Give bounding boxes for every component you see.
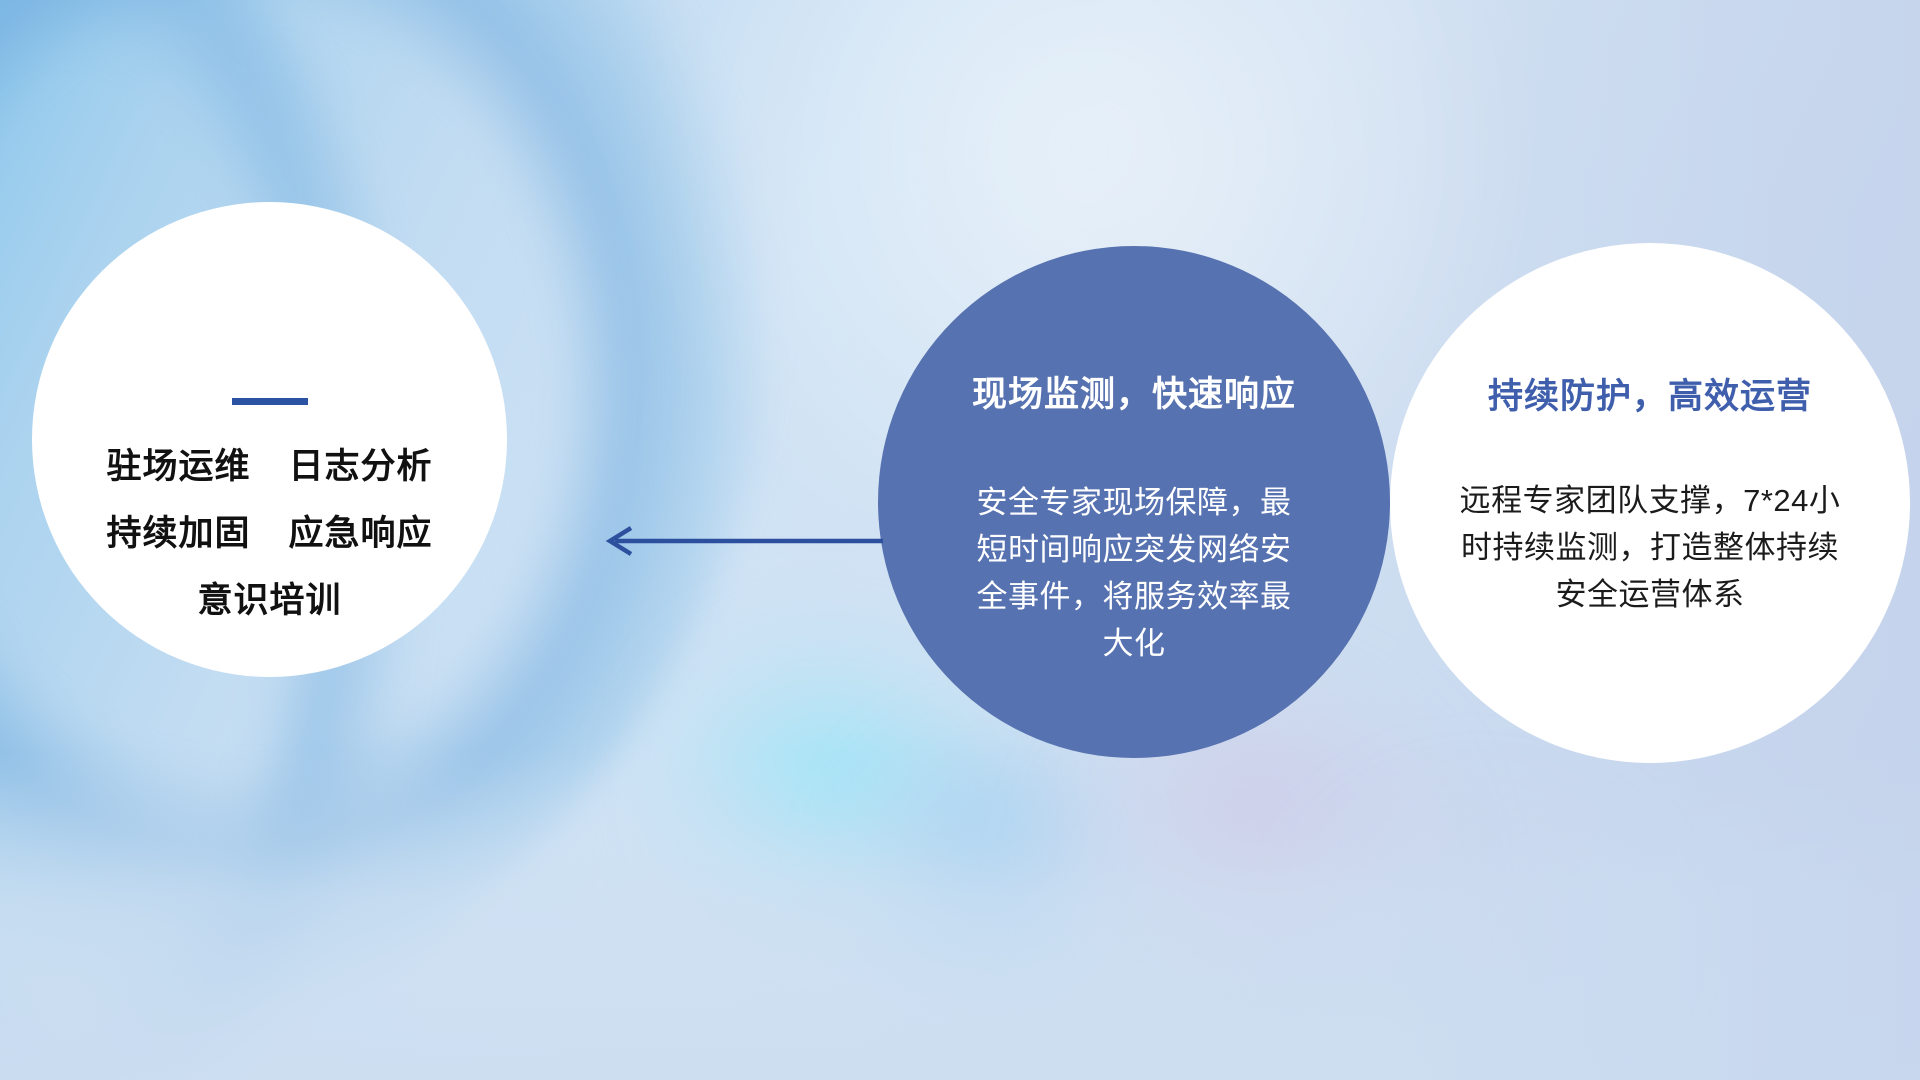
service-item-row: 驻场运维 日志分析 [32,449,507,484]
title-divider-dash [232,398,308,405]
service-item-row: 持续加固 应急响应 [32,516,507,551]
services-circle-content: 驻场运维 日志分析 持续加固 应急响应 意识培训 [32,202,507,677]
service-item-hardening: 持续加固 [106,516,250,551]
continuous-circle-body: 远程专家团队支撑，7*24小时持续监测，打造整体持续安全运营体系 [1450,477,1850,618]
flow-arrow-icon [595,515,885,567]
service-item-awareness-training: 意识培训 [197,583,341,618]
continuous-circle-title: 持续防护，高效运营 [1488,368,1812,419]
service-item-onsite-ops: 驻场运维 [106,449,250,484]
continuous-circle-content: 持续防护，高效运营 远程专家团队支撑，7*24小时持续监测，打造整体持续安全运营… [1390,243,1910,763]
service-item-list: 驻场运维 日志分析 持续加固 应急响应 意识培训 [32,449,507,650]
service-item-log-analysis: 日志分析 [289,449,433,484]
onsite-circle-title: 现场监测，快速响应 [972,366,1296,417]
service-item-incident-resp: 应急响应 [289,516,433,551]
onsite-circle-content: 现场监测，快速响应 安全专家现场保障，最短时间响应突发网络安全事件，将服务效率最… [878,246,1390,758]
onsite-circle-body: 安全专家现场保障，最短时间响应突发网络安全事件，将服务效率最大化 [969,479,1299,667]
service-item-row: 意识培训 [32,583,507,618]
